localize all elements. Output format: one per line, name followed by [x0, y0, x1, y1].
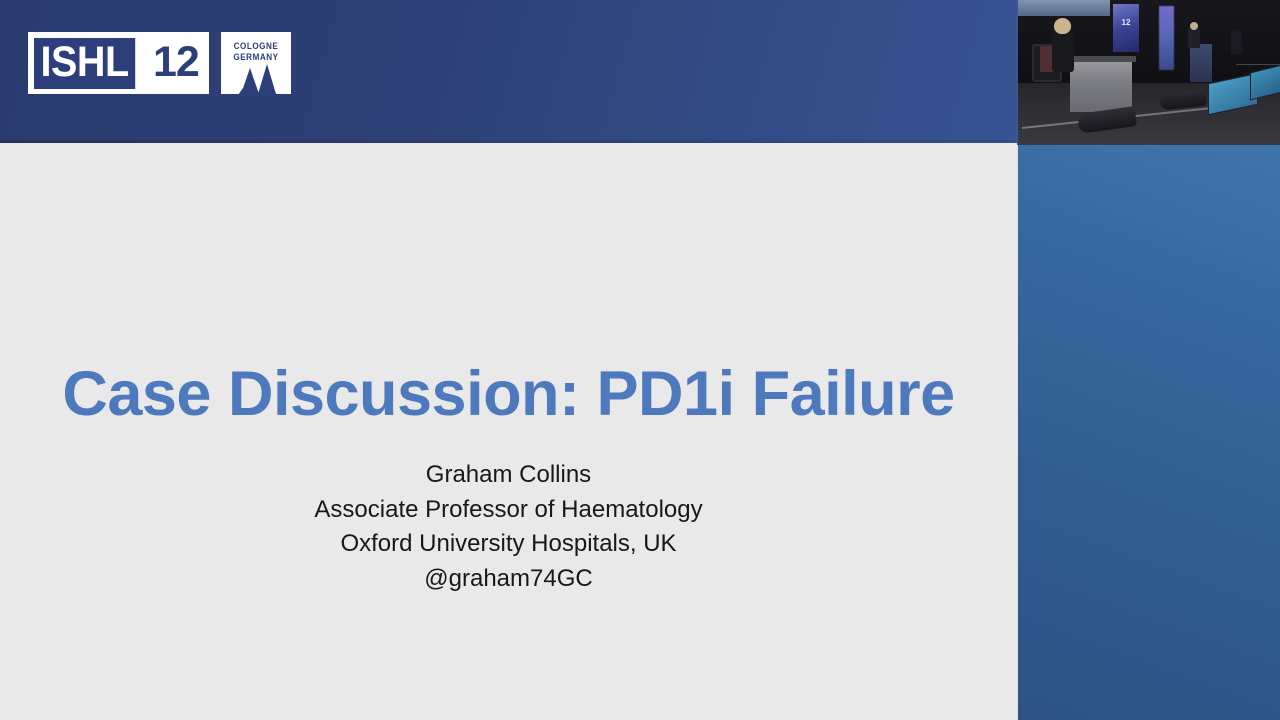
stage-banner: 12: [1113, 4, 1139, 52]
right-blue-panel: [1015, 145, 1280, 720]
logo-city-label: COLOGNE GERMANY: [224, 41, 287, 63]
lectern: [1190, 44, 1212, 82]
logo-city-box: COLOGNE GERMANY: [221, 32, 291, 94]
logo-brand-text: ISHL: [34, 38, 135, 89]
logo-city-line2: GERMANY: [233, 52, 278, 62]
panel-desk: [1070, 60, 1132, 112]
camera-feed-thumbnail[interactable]: 12: [1016, 0, 1280, 145]
stage-banner-text: 12: [1113, 18, 1139, 27]
presentation-slide-viewer: ISHL 12 COLOGNE GERMANY 12: [0, 0, 1280, 720]
projection-screen: [1018, 0, 1110, 16]
seated-panelist-head: [1054, 18, 1071, 34]
logo-main-box: ISHL 12: [28, 32, 209, 94]
second-stage-person: [1231, 30, 1242, 54]
ishl12-logo: ISHL 12 COLOGNE GERMANY: [28, 32, 291, 94]
logo-edition-text: 12: [144, 38, 203, 89]
presenter-affiliation: Oxford University Hospitals, UK: [0, 527, 1017, 562]
stage-light-column: [1159, 6, 1174, 70]
slide-content-area: Case Discussion: PD1i Failure Graham Col…: [0, 143, 1017, 720]
logo-city-line1: COLOGNE: [233, 41, 278, 51]
slide-title: Case Discussion: PD1i Failure: [0, 358, 1017, 430]
presenter-handle: @graham74GC: [0, 562, 1017, 597]
stage-rail: [1236, 64, 1280, 65]
speaker-at-lectern-head: [1190, 22, 1198, 30]
slide-subtitle-block: Graham Collins Associate Professor of Ha…: [0, 458, 1017, 596]
presenter-role: Associate Professor of Haematology: [0, 493, 1017, 528]
presenter-name: Graham Collins: [0, 458, 1017, 493]
